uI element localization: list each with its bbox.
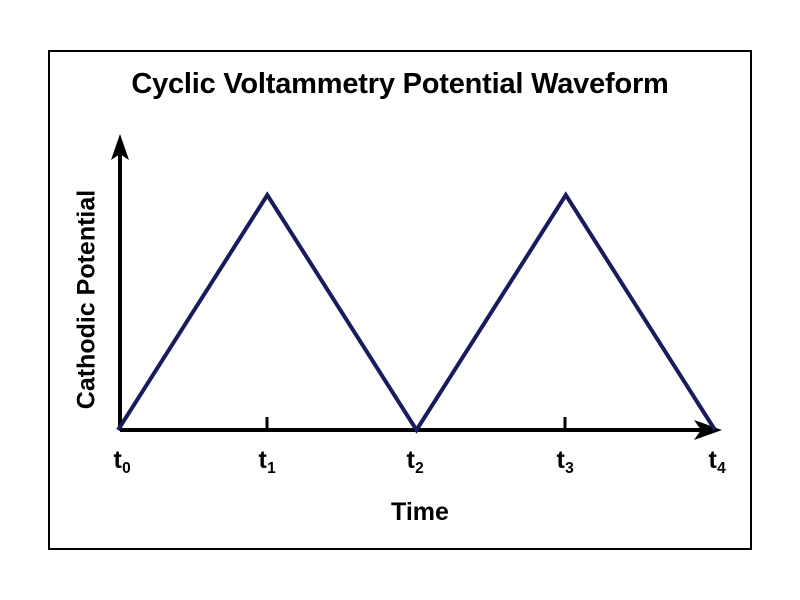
x-tick-label-t4: t4	[687, 446, 747, 475]
waveform-line	[118, 195, 715, 430]
y-axis-title: Cathodic Potential	[73, 170, 102, 430]
x-tick-label-t0: t0	[92, 446, 152, 475]
x-tick-label-t2-sub: 2	[415, 460, 424, 477]
figure-root: Cyclic Voltammetry Potential Waveform Ca…	[0, 0, 800, 600]
x-tick-label-t1-sub: 1	[267, 460, 276, 477]
x-tick-label-t4-base: t	[709, 446, 717, 474]
x-tick-label-t4-sub: 4	[717, 460, 726, 477]
x-tick-label-t1-base: t	[259, 446, 267, 474]
x-tick-label-t3: t3	[535, 446, 595, 475]
x-tick-label-t3-base: t	[557, 446, 565, 474]
x-tick-label-t2: t2	[385, 446, 445, 475]
x-tick-label-t0-base: t	[114, 446, 122, 474]
x-tick-label-t0-sub: 0	[122, 460, 131, 477]
x-tick-label-t2-base: t	[407, 446, 415, 474]
x-tick-label-t1: t1	[237, 446, 297, 475]
x-tick-label-t3-sub: 3	[565, 460, 574, 477]
x-axis-title: Time	[340, 498, 500, 527]
